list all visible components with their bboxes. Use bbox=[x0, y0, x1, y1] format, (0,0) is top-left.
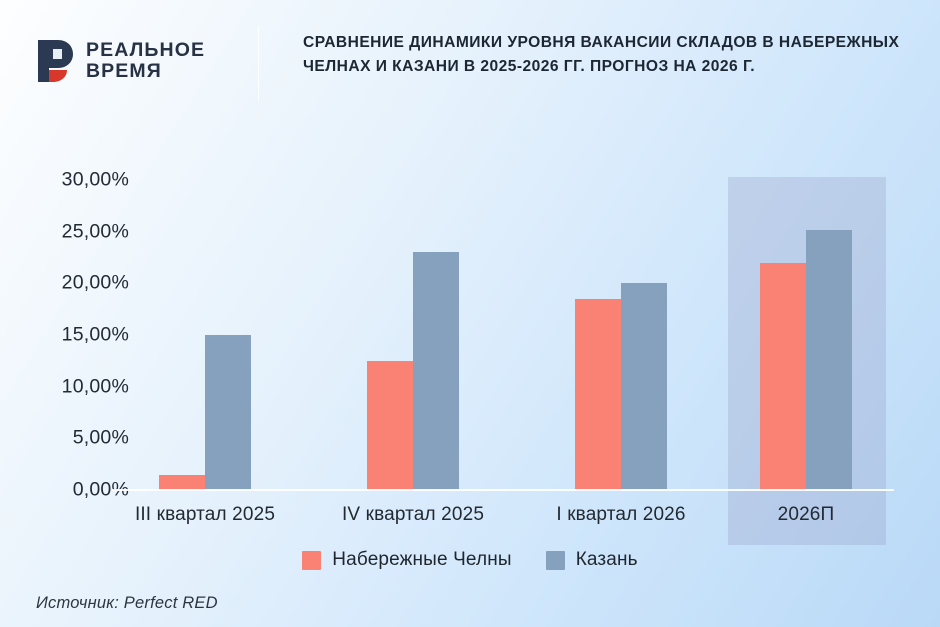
bar-kazan-2 bbox=[621, 283, 667, 490]
y-axis-tick-label: 5,00% bbox=[29, 427, 129, 450]
y-axis-tick-label: 30,00% bbox=[29, 169, 129, 192]
chart-legend: Набережные ЧелныКазань bbox=[0, 549, 940, 571]
bar-chelny-3 bbox=[760, 263, 806, 490]
bar-kazan-1 bbox=[413, 252, 459, 490]
source-note: Источник: Perfect RED bbox=[36, 594, 218, 613]
x-axis-baseline bbox=[112, 489, 894, 491]
bar-chelny-0 bbox=[159, 475, 205, 491]
y-axis-tick-label: 15,00% bbox=[29, 324, 129, 347]
bar-chelny-1 bbox=[367, 361, 413, 490]
bar-kazan-3 bbox=[806, 230, 852, 490]
y-axis-tick-label: 20,00% bbox=[29, 272, 129, 295]
bar-chelny-2 bbox=[575, 299, 621, 490]
y-axis-tick-label: 25,00% bbox=[29, 220, 129, 243]
x-axis-category-label: 2026П bbox=[676, 504, 936, 526]
chart-plot-area: 0,00%5,00%10,00%15,00%20,00%25,00%30,00%… bbox=[0, 0, 940, 627]
legend-item-kazan[interactable]: Казань bbox=[546, 549, 638, 571]
legend-swatch-icon bbox=[546, 551, 565, 570]
y-axis-tick-label: 10,00% bbox=[29, 375, 129, 398]
legend-label: Набережные Челны bbox=[332, 549, 511, 571]
legend-label: Казань bbox=[576, 549, 638, 571]
legend-swatch-icon bbox=[302, 551, 321, 570]
legend-item-chelny[interactable]: Набережные Челны bbox=[302, 549, 511, 571]
bar-kazan-0 bbox=[205, 335, 251, 490]
